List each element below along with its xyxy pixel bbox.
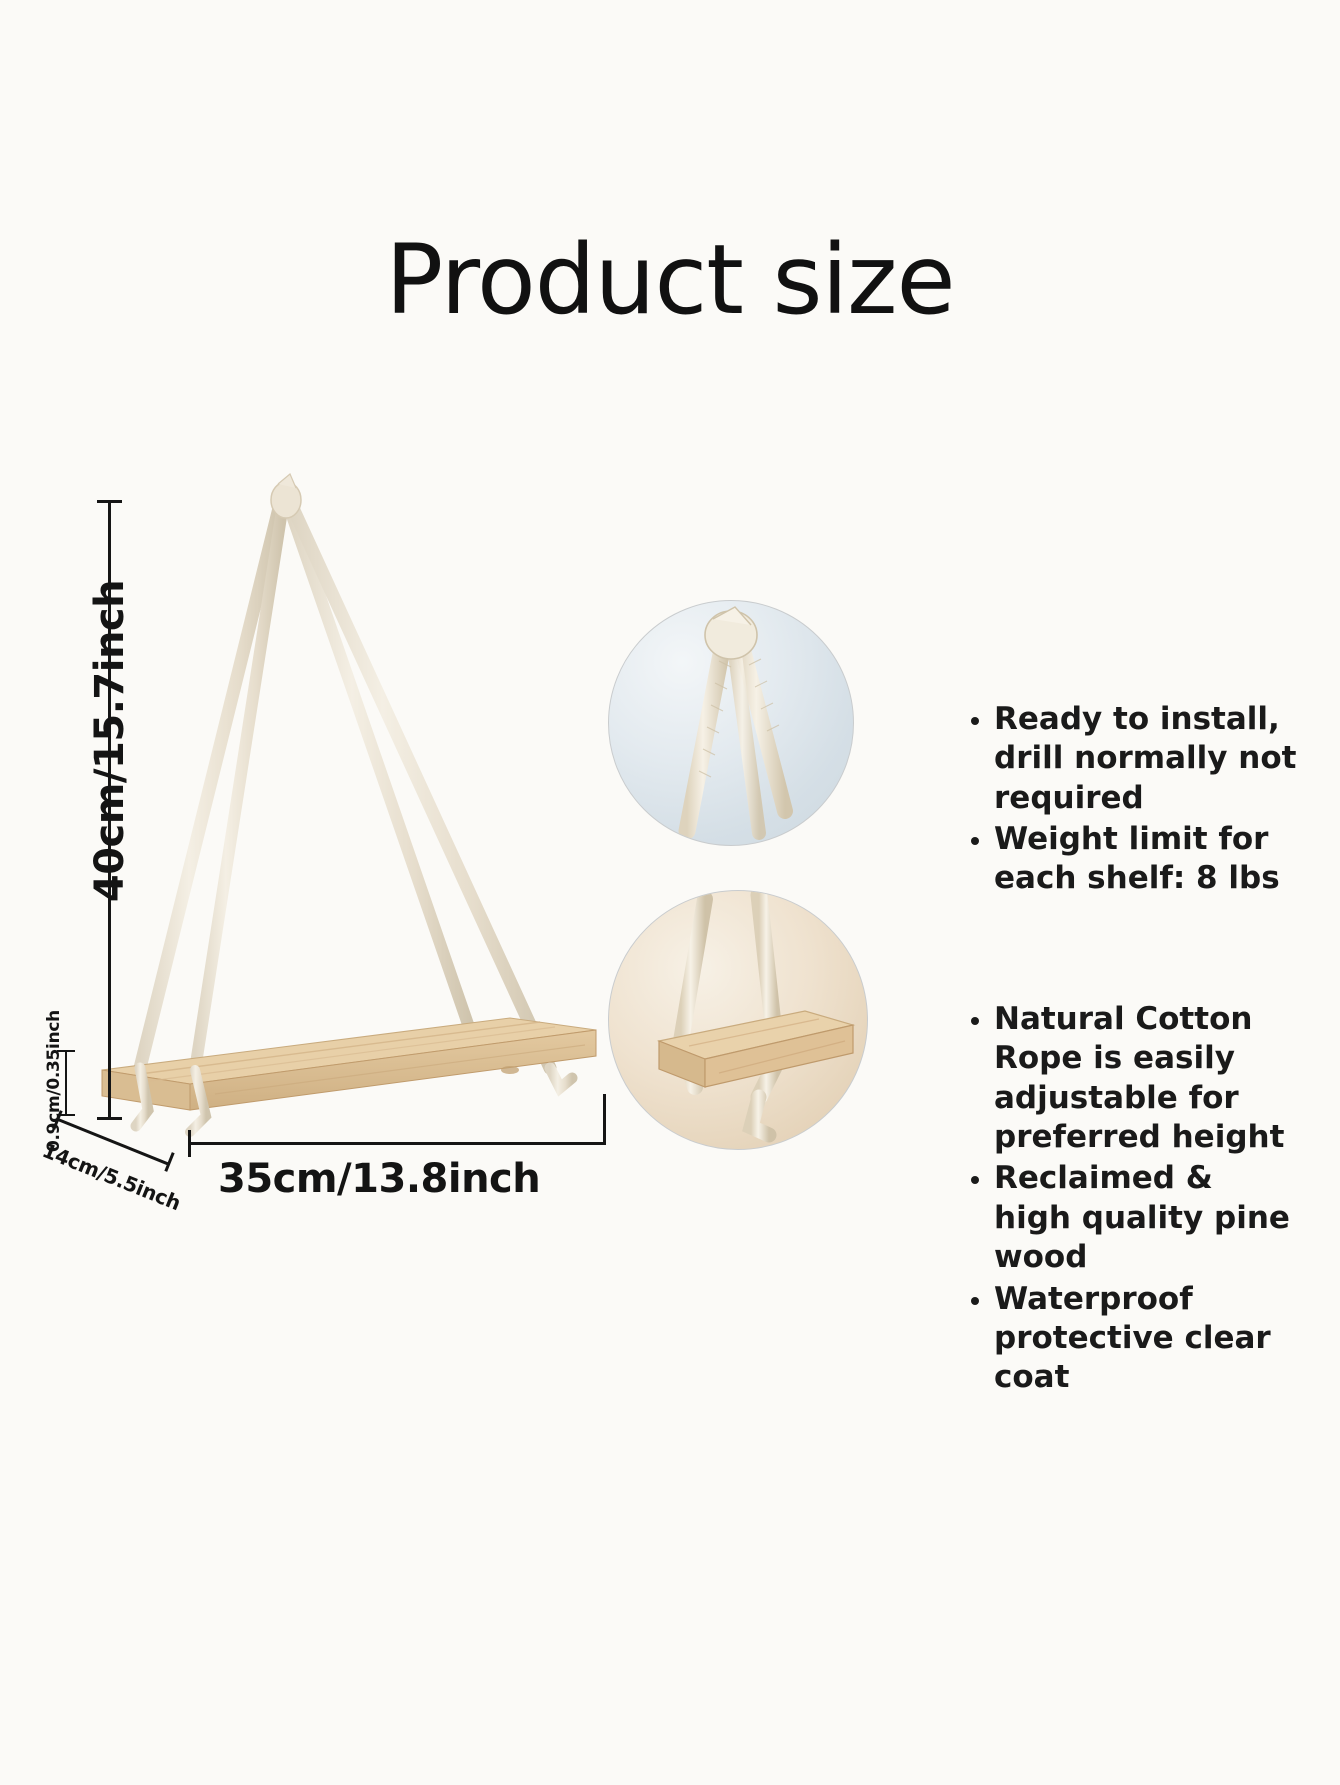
list-item: Weight limit for each shelf: 8 lbs bbox=[968, 820, 1298, 899]
bullet-dot-icon bbox=[971, 837, 979, 845]
bullet-dot-icon bbox=[971, 1297, 979, 1305]
bullet-dot-icon bbox=[971, 1017, 979, 1025]
list-item: Reclaimed & high quality pine wood bbox=[968, 1159, 1298, 1277]
feature-text: Reclaimed & high quality pine wood bbox=[994, 1160, 1290, 1275]
rope-knot-detail-photo bbox=[608, 600, 854, 846]
feature-list-top: Ready to install, drill normally not req… bbox=[968, 700, 1298, 901]
list-item: Ready to install, drill normally not req… bbox=[968, 700, 1298, 818]
width-measure-line bbox=[188, 1142, 606, 1145]
width-measure-cap-left bbox=[188, 1130, 191, 1157]
feature-list-bottom: Natural Cotton Rope is easily adjustable… bbox=[968, 1000, 1298, 1400]
height-dimension-label: 40cm/15.7inch bbox=[87, 576, 133, 906]
feature-text: Weight limit for each shelf: 8 lbs bbox=[994, 821, 1280, 896]
feature-text: Natural Cotton Rope is easily adjustable… bbox=[994, 1001, 1284, 1155]
rope-knot-graphic bbox=[609, 601, 853, 845]
shelf-rope-graphic bbox=[609, 891, 867, 1149]
page-title: Product size bbox=[0, 232, 1340, 328]
thickness-measure-line bbox=[65, 1050, 67, 1116]
width-dimension-label: 35cm/13.8inch bbox=[218, 1156, 540, 1202]
width-measure-cap-right bbox=[603, 1094, 606, 1144]
thickness-dimension-label: 0.9cm/0.35inch bbox=[44, 1012, 64, 1152]
list-item: Natural Cotton Rope is easily adjustable… bbox=[968, 1000, 1298, 1157]
shelf-rope-detail-photo bbox=[608, 890, 868, 1150]
product-size-infographic: Product size bbox=[0, 0, 1340, 1785]
feature-text: Waterproof protective clear coat bbox=[994, 1281, 1271, 1396]
bullet-dot-icon bbox=[971, 1176, 979, 1184]
feature-text: Ready to install, drill normally not req… bbox=[994, 701, 1296, 816]
product-diagram: 40cm/15.7inch 0.9cm/0.35inch 14cm/5.5inc… bbox=[40, 470, 660, 1230]
rope-shelf-illustration bbox=[40, 470, 660, 1230]
list-item: Waterproof protective clear coat bbox=[968, 1280, 1298, 1398]
height-measure-cap-top bbox=[97, 500, 122, 503]
bullet-dot-icon bbox=[971, 717, 979, 725]
height-measure-cap-bottom bbox=[97, 1117, 122, 1120]
